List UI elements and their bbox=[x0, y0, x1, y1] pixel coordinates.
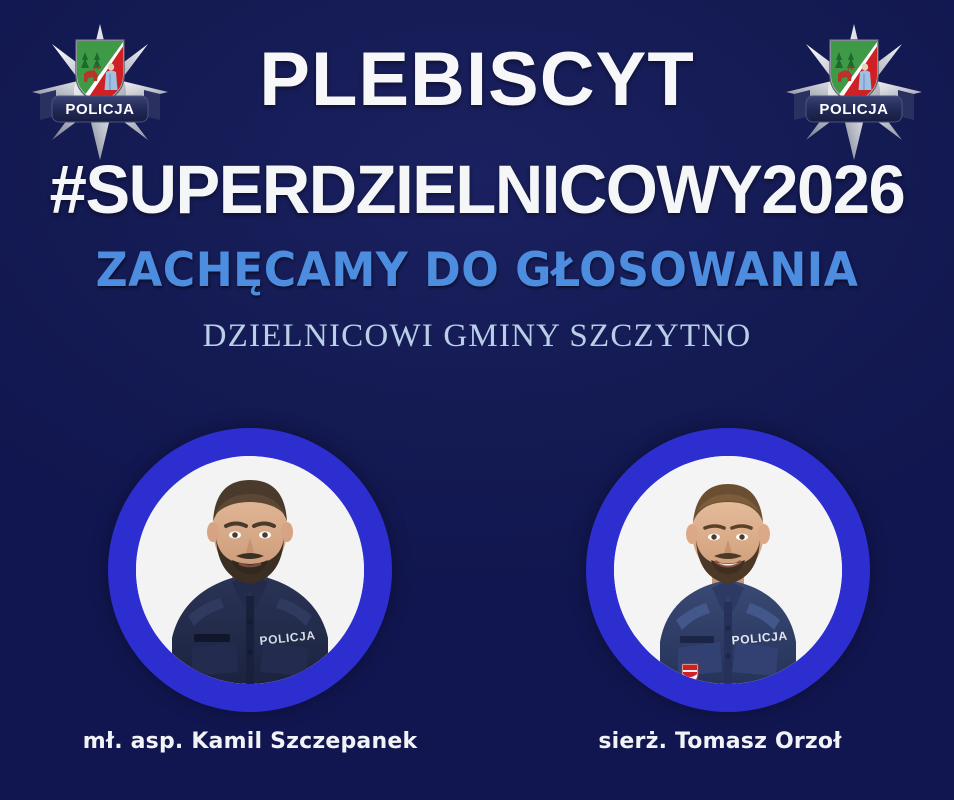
officer-portrait-1: POLICJA bbox=[108, 428, 392, 712]
officer-caption-2: sierż. Tomasz Orzoł bbox=[520, 729, 920, 754]
officer-photo-tomasz-orzol: POLICJA bbox=[614, 456, 842, 684]
portrait-photo: POLICJA bbox=[136, 456, 364, 684]
officer-caption-1: mł. asp. Kamil Szczepanek bbox=[50, 729, 450, 754]
scope-subtitle: DZIELNICOWI GMINY SZCZYTNO bbox=[0, 320, 954, 353]
campaign-hashtag: #SUPERDZIELNICOWY2026 bbox=[14, 155, 939, 224]
officer-photo-kamil-szczepanek: POLICJA bbox=[136, 456, 364, 684]
poster-canvas: POLICJA bbox=[0, 0, 954, 800]
page-title: PLEBISCYT bbox=[0, 42, 954, 118]
portrait-photo: POLICJA bbox=[614, 456, 842, 684]
call-to-action-text: ZACHĘCAMY DO GŁOSOWANIA bbox=[29, 247, 926, 294]
officer-portrait-2: POLICJA bbox=[586, 428, 870, 712]
